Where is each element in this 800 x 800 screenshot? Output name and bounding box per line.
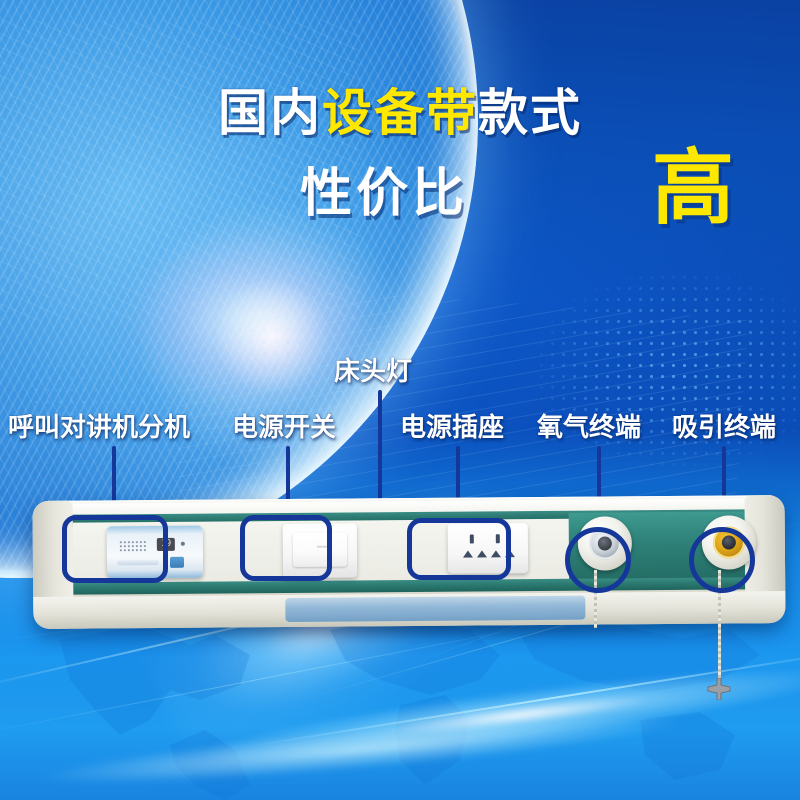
callout-label-suction-outlet: 吸引终端 [672,414,776,440]
promo-banner: 国内设备带款式 性价比 高 呼叫对讲机分机 电源开关 床头灯 电源插座 氧气终端… [0,0,800,800]
callout-label-power-socket: 电源插座 [400,414,504,440]
headline-line-2: 性价比 [300,168,468,220]
highlight-circle-suction-outlet [689,527,755,593]
panel-rail-blue-insert [285,596,585,622]
highlight-box-power-socket [407,518,511,580]
intercom-call-button[interactable] [170,557,184,568]
headline-emphasis-gao: 高 [652,148,734,230]
callout-label-power-switch: 电源开关 [232,414,336,440]
headline-part-2: 设备带 [322,85,478,141]
headline-line-1: 国内设备带款式 [0,88,800,138]
callout-label-intercom: 呼叫对讲机分机 [8,414,190,440]
cord-weight-icon [707,678,731,700]
highlight-circle-oxygen-outlet [565,527,631,593]
callout-label-oxygen-outlet: 氧气终端 [537,414,641,440]
headline-part-3: 款式 [478,85,582,141]
headline-part-1: 国内 [218,85,322,141]
status-led-icon [181,542,185,546]
callout-label-bed-lamp: 床头灯 [334,358,412,384]
highlight-box-power-switch [240,515,332,581]
highlight-box-intercom [62,515,168,583]
